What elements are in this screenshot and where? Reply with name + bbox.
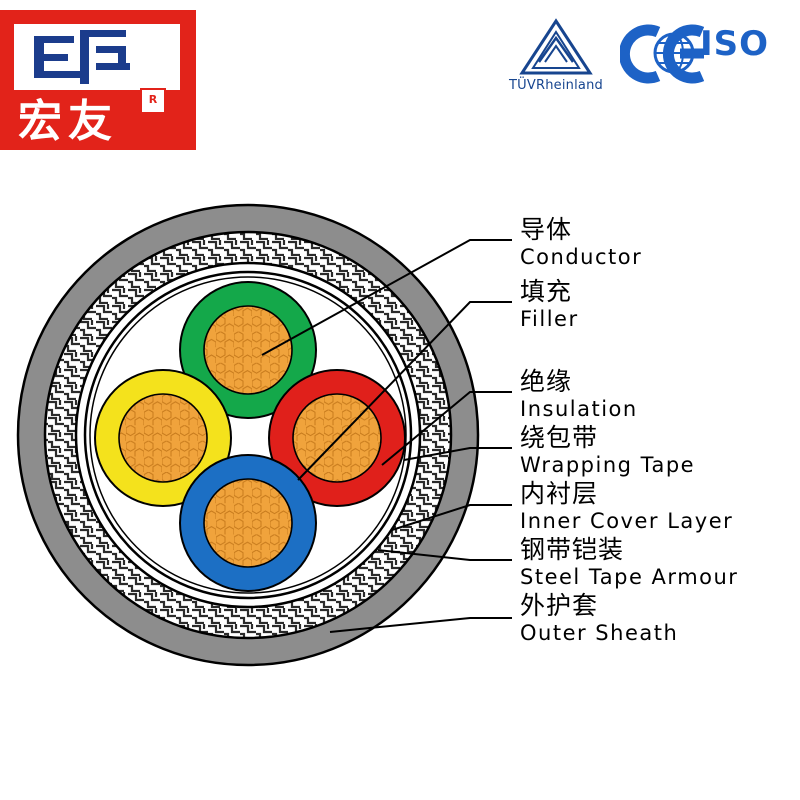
cert-tuv-label: TÜVRheinland bbox=[500, 78, 612, 93]
cert-iso: ISO bbox=[700, 24, 792, 86]
core-blue bbox=[180, 455, 316, 591]
brand-name-cn: 宏友 bbox=[18, 94, 138, 150]
cert-tuv: TÜVRheinland bbox=[500, 18, 612, 98]
logo-mark-icon bbox=[34, 30, 130, 84]
iso-globe-icon bbox=[652, 30, 696, 76]
cable-svg bbox=[0, 160, 800, 800]
trademark-icon: R bbox=[140, 88, 166, 114]
tuv-triangle-icon bbox=[519, 18, 593, 76]
cable-cross-section-diagram: 导体 Conductor 填充 Filler 绝缘 Insulation 绕包带… bbox=[0, 160, 800, 800]
cert-iso-label: ISO bbox=[700, 24, 769, 64]
header-band: 宏友 R TÜVRheinland ISO bbox=[0, 0, 800, 160]
brand-logo: 宏友 R bbox=[0, 10, 196, 150]
